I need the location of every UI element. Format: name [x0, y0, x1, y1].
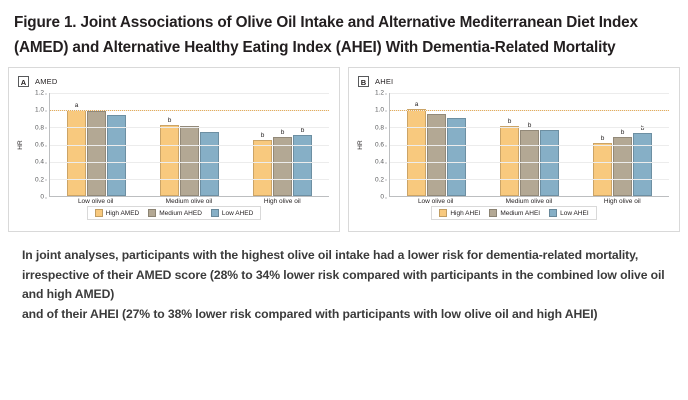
- gridline: [50, 93, 329, 94]
- panel-a-badge: A: [18, 76, 29, 87]
- y-tick-label: 0: [380, 194, 384, 201]
- figure-caption: In joint analyses, participants with the…: [0, 232, 688, 324]
- x-axis-label: Low olive oil: [405, 198, 467, 205]
- bar-significance-label: b: [273, 129, 292, 136]
- legend-item[interactable]: Low AHED: [211, 209, 253, 217]
- x-axis-label: High olive oil: [251, 198, 313, 205]
- panel-a-plot: HR 00.20.40.60.81.01.2 abbbb Low olive o…: [15, 93, 333, 197]
- panel-a-legend: High AMEDMedium AHEDLow AHED: [87, 206, 262, 220]
- y-tick-label: 0.6: [35, 142, 44, 149]
- bar-significance-label: a: [407, 101, 426, 108]
- y-tick-label: 0.4: [375, 159, 384, 166]
- gridline: [390, 127, 669, 128]
- legend-label: High AMED: [106, 210, 140, 217]
- legend-swatch-icon: [489, 209, 497, 217]
- y-tick-label: 0: [40, 194, 44, 201]
- bar-significance-label: b: [613, 129, 632, 136]
- panel-a-title: AMED: [35, 77, 57, 86]
- gridline: [50, 145, 329, 146]
- figure-title: Figure 1. Joint Associations of Olive Oi…: [0, 0, 688, 60]
- bar-significance-label: a: [67, 102, 86, 109]
- bar[interactable]: [200, 132, 219, 196]
- gridline: [50, 179, 329, 180]
- reference-line: [390, 110, 669, 111]
- legend-swatch-icon: [211, 209, 219, 217]
- y-tick-label: 1.0: [35, 107, 44, 114]
- legend-item[interactable]: Low AHEI: [549, 209, 589, 217]
- y-tick-label: 0.2: [375, 176, 384, 183]
- bar[interactable]: [447, 118, 466, 196]
- legend-swatch-icon: [148, 209, 156, 217]
- gridline: [50, 162, 329, 163]
- panel-ahei: B AHEI HR 00.20.40.60.81.01.2 abbbbb Low…: [348, 67, 680, 232]
- y-tick-label: 0.8: [375, 124, 384, 131]
- y-tick-label: 0.2: [35, 176, 44, 183]
- gridline: [390, 145, 669, 146]
- bar-significance-label: b: [160, 117, 179, 124]
- gridline: [390, 93, 669, 94]
- y-tick-label: 0.6: [375, 142, 384, 149]
- y-tick-label: 1.2: [35, 90, 44, 97]
- gridline: [50, 127, 329, 128]
- panel-b-header: B AHEI: [358, 75, 673, 88]
- chart-panels: A AMED HR 00.20.40.60.81.01.2 abbbb Low …: [0, 67, 688, 232]
- panel-a-header: A AMED: [18, 75, 333, 88]
- legend-label: Low AHED: [222, 210, 253, 217]
- bar-significance-label: b: [593, 135, 612, 142]
- reference-line: [50, 110, 329, 111]
- panel-b-title: AHEI: [375, 77, 393, 86]
- caption-line-2: and of their AHEI (27% to 38% lower risk…: [22, 305, 666, 325]
- panel-a-y-ticks: 00.20.40.60.81.01.2: [25, 93, 47, 197]
- legend-label: Medium AHEI: [500, 210, 540, 217]
- panel-b-plot: HR 00.20.40.60.81.01.2 abbbbb Low olive …: [355, 93, 673, 197]
- bar[interactable]: [160, 125, 179, 196]
- legend-item[interactable]: Medium AHEI: [489, 209, 540, 217]
- bar[interactable]: [540, 130, 559, 196]
- bar[interactable]: [67, 110, 86, 196]
- bar-significance-label: b: [500, 118, 519, 125]
- y-tick-label: 0.4: [35, 159, 44, 166]
- legend-label: Medium AHED: [159, 210, 202, 217]
- bar[interactable]: [87, 111, 106, 196]
- legend-swatch-icon: [95, 209, 103, 217]
- gridline: [390, 179, 669, 180]
- caption-line-1: In joint analyses, participants with the…: [22, 246, 666, 305]
- panel-a-y-axis-label: HR: [17, 140, 24, 149]
- bar[interactable]: [633, 133, 652, 196]
- legend-swatch-icon: [439, 209, 447, 217]
- bar[interactable]: [273, 137, 292, 196]
- y-tick-label: 0.8: [35, 124, 44, 131]
- bar[interactable]: [613, 137, 632, 196]
- panel-b-axes: abbbbb: [389, 93, 669, 197]
- x-axis-label: Medium olive oil: [158, 198, 220, 205]
- legend-label: Low AHEI: [560, 210, 589, 217]
- bar[interactable]: [593, 143, 612, 196]
- panel-b-y-axis-label: HR: [357, 140, 364, 149]
- bar[interactable]: [407, 109, 426, 196]
- legend-item[interactable]: Medium AHED: [148, 209, 202, 217]
- bar[interactable]: [253, 140, 272, 196]
- panel-b-y-ticks: 00.20.40.60.81.01.2: [365, 93, 387, 197]
- gridline: [390, 162, 669, 163]
- y-tick-label: 1.0: [375, 107, 384, 114]
- panel-a-x-labels: Low olive oilMedium olive oilHigh olive …: [49, 198, 329, 205]
- panel-b-legend: High AHEIMedium AHEILow AHEI: [431, 206, 596, 220]
- figure-container: Figure 1. Joint Associations of Olive Oi…: [0, 0, 688, 324]
- legend-item[interactable]: High AHEI: [439, 209, 480, 217]
- x-axis-label: Medium olive oil: [498, 198, 560, 205]
- panel-a-axes: abbbb: [49, 93, 329, 197]
- bar-significance-label: b: [253, 132, 272, 139]
- panel-b-x-labels: Low olive oilMedium olive oilHigh olive …: [389, 198, 669, 205]
- panel-b-badge: B: [358, 76, 369, 87]
- legend-item[interactable]: High AMED: [95, 209, 140, 217]
- x-axis-label: Low olive oil: [65, 198, 127, 205]
- x-axis-label: High olive oil: [591, 198, 653, 205]
- bar[interactable]: [520, 130, 539, 196]
- y-tick-label: 1.2: [375, 90, 384, 97]
- legend-label: High AHEI: [450, 210, 480, 217]
- panel-amed: A AMED HR 00.20.40.60.81.01.2 abbbb Low …: [8, 67, 340, 232]
- legend-swatch-icon: [549, 209, 557, 217]
